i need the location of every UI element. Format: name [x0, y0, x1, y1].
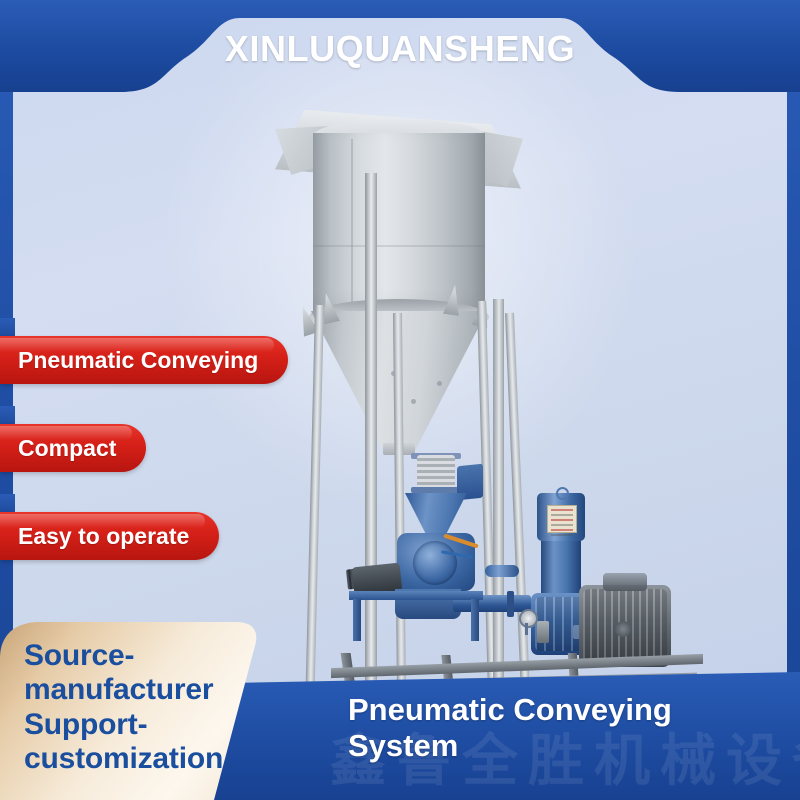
- brand-name: XINLUQUANSHENG: [0, 18, 800, 80]
- blower-lift-ring: [556, 487, 569, 500]
- motor-terminal-box: [603, 573, 647, 591]
- skid-leg: [353, 599, 361, 641]
- feature-badge-pneumatic-conveying: Pneumatic Conveying: [0, 336, 288, 384]
- feature-badge-easy-to-operate: Easy to operate: [0, 512, 219, 560]
- blower-silencer-tank: [485, 569, 519, 675]
- silo-horizontal-seam: [313, 245, 485, 247]
- silo-vertical-seam: [351, 139, 353, 315]
- promo-image-canvas: XINLUQUANSHENG Pneumatic Conveying Compa…: [0, 0, 800, 800]
- promo-text: Source-manufacturer Support-customizatio…: [24, 639, 264, 776]
- feeder-skid-platform: [349, 591, 483, 600]
- relief-valve: [537, 621, 549, 643]
- skid-leg: [471, 599, 479, 641]
- silencer-cap: [485, 565, 519, 577]
- hopper-bolt: [411, 399, 416, 404]
- flexible-bellows: [417, 455, 455, 489]
- pressure-gauge: [519, 609, 538, 628]
- feature-badge-compact: Compact: [0, 424, 146, 472]
- product-title: Pneumatic Conveying System: [348, 692, 778, 764]
- conveying-riser-pipe: [365, 173, 377, 687]
- gauge-stem: [525, 623, 528, 635]
- silo-cylinder-body: [313, 133, 485, 317]
- bellows-bottom-flange: [411, 487, 461, 493]
- rotary-valve-rotor-cover: [413, 541, 457, 585]
- blower-spec-label: [547, 505, 577, 533]
- hopper-bolt: [437, 381, 442, 386]
- motor-fan-hub: [615, 621, 631, 637]
